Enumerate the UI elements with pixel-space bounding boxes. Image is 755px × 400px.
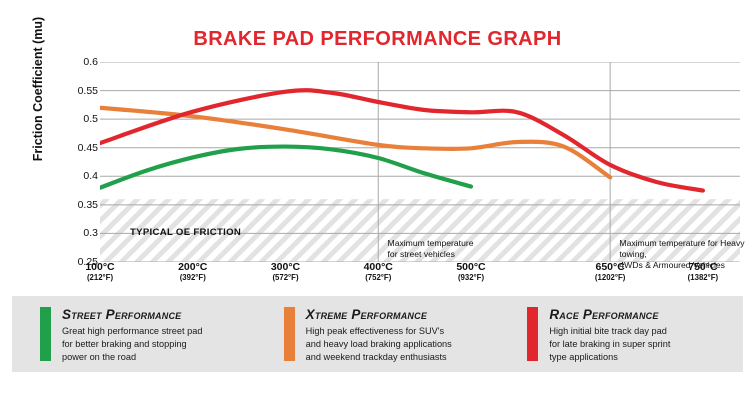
street-zone-note: Maximum temperature for street vehicles [388, 238, 474, 260]
page-title: BRAKE PAD PERFORMANCE GRAPH [0, 28, 755, 51]
legend-swatch-icon [527, 307, 538, 361]
heavy-zone-note-line1: Maximum temperature for Heavy towing, [619, 238, 755, 260]
x-tick-celsius: 300°C [271, 262, 300, 274]
legend-item-street-performance[interactable]: Street PerformanceGreat high performance… [12, 296, 256, 372]
series-line-race-performance [100, 90, 703, 190]
legend-item-race-performance[interactable]: Race PerformanceHigh initial bite track … [499, 296, 743, 372]
legend-desc-line: for better braking and stopping [62, 338, 202, 351]
x-axis-tick-labels: 100°C(212°F)200°C(392°F)300°C(572°F)400°… [100, 262, 740, 296]
legend-desc-line: power on the road [62, 351, 202, 364]
x-tick-fahrenheit: (572°F) [271, 274, 300, 283]
y-axis-tick-0-5: 0.5 [58, 113, 98, 125]
x-axis-tick-650: 650°C(1202°F) [595, 262, 625, 282]
legend-text-block: Race PerformanceHigh initial bite track … [549, 307, 670, 372]
y-axis-label: Friction Coefficient (mu) [31, 0, 45, 189]
legend-desc-line: High initial bite track day pad [549, 325, 670, 338]
legend-item-xtreme-performance[interactable]: Xtreme PerformanceHigh peak effectivenes… [256, 296, 500, 372]
series-line-street-performance [100, 147, 471, 188]
legend-desc-line: Great high performance street pad [62, 325, 202, 338]
series-lines [100, 90, 703, 190]
y-axis-tick-0-4: 0.4 [58, 170, 98, 182]
street-zone-note-line1: Maximum temperature [388, 238, 474, 249]
legend-desc-line: for late braking in super sprint [549, 338, 670, 351]
street-zone-note-line2: for street vehicles [388, 249, 474, 260]
x-tick-fahrenheit: (212°F) [85, 274, 114, 283]
x-tick-fahrenheit: (392°F) [178, 274, 207, 283]
x-tick-celsius: 100°C [85, 262, 114, 274]
legend-text-block: Street PerformanceGreat high performance… [62, 307, 202, 372]
legend-desc-line: High peak effectiveness for SUV's [306, 325, 452, 338]
x-tick-celsius: 650°C [595, 262, 625, 274]
x-tick-fahrenheit: (1202°F) [595, 274, 625, 283]
legend-desc-line: and weekend trackday enthusiasts [306, 351, 452, 364]
legend-title: Street Performance [62, 307, 202, 322]
legend-title: Xtreme Performance [306, 307, 452, 322]
x-axis-tick-200: 200°C(392°F) [178, 262, 207, 282]
x-tick-celsius: 200°C [178, 262, 207, 274]
y-axis-tick-0-6: 0.6 [58, 56, 98, 68]
y-axis-tick-0-45: 0.45 [58, 142, 98, 154]
x-axis-tick-400: 400°C(752°F) [364, 262, 393, 282]
x-tick-fahrenheit: (1382°F) [688, 274, 718, 283]
legend: Street PerformanceGreat high performance… [12, 296, 743, 372]
legend-desc-line: type applications [549, 351, 670, 364]
oe-friction-band-label: TYPICAL OE FRICTION [130, 227, 241, 238]
x-tick-celsius: 400°C [364, 262, 393, 274]
x-axis-tick-300: 300°C(572°F) [271, 262, 300, 282]
legend-swatch-icon [284, 307, 295, 361]
x-tick-celsius: 500°C [456, 262, 485, 274]
legend-text-block: Xtreme PerformanceHigh peak effectivenes… [306, 307, 452, 372]
x-axis-tick-500: 500°C(932°F) [456, 262, 485, 282]
x-axis-tick-100: 100°C(212°F) [85, 262, 114, 282]
legend-title: Race Performance [549, 307, 670, 322]
x-tick-fahrenheit: (752°F) [364, 274, 393, 283]
x-tick-fahrenheit: (932°F) [456, 274, 485, 283]
x-tick-celsius: 750°C [688, 262, 718, 274]
y-axis-tick-0-55: 0.55 [58, 85, 98, 97]
y-axis-tick-labels: 0.60.550.50.450.40.350.30.25 [58, 62, 98, 262]
x-axis-tick-750: 750°C(1382°F) [688, 262, 718, 282]
legend-swatch-icon [40, 307, 51, 361]
y-axis-tick-0-35: 0.35 [58, 199, 98, 211]
y-axis-tick-0-3: 0.3 [58, 227, 98, 239]
legend-desc-line: and heavy load braking applications [306, 338, 452, 351]
